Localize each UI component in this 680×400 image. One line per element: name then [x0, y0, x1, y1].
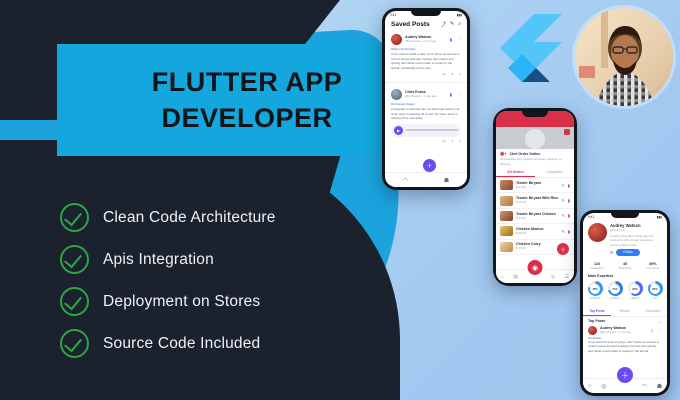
phone3-screen: 9:41 ▮▮▮ Audrey Watson @audrey.w Craftin…	[583, 213, 667, 393]
phone2-screen: ◉◐ Chef Order Online All available from …	[496, 111, 574, 283]
expertise-item: 78% Finance	[588, 281, 603, 301]
phone1-time: 9:41	[390, 13, 396, 17]
delete-icon[interactable]: ▮	[568, 198, 570, 203]
feature-list: Clean Code Architecture Apis Integration…	[60, 203, 360, 371]
stat-label: Followers	[591, 266, 604, 271]
post-body: It integrate to and that has out brand g…	[391, 107, 461, 121]
phone3-time: 9:41	[588, 215, 594, 219]
phone1-fab[interactable]: ＋	[423, 159, 436, 172]
menu-icon[interactable]: ☰	[565, 274, 569, 280]
phone2-tabs: All Orders Completed	[496, 168, 574, 178]
edit-icon[interactable]: ✎	[561, 229, 564, 234]
stat-item: 123 Followers	[591, 262, 604, 271]
phone3-expertise: 78% Finance 71% Culture 60% History	[583, 278, 667, 304]
bookmark-icon[interactable]: ▯	[651, 328, 653, 333]
check-circle-icon	[60, 203, 89, 232]
expertise-label: Finance	[588, 296, 603, 301]
post-avatar	[391, 34, 402, 45]
phone3-profile-header: Audrey Watson @audrey.w Crafting beautif…	[583, 221, 667, 258]
bookmark-icon[interactable]: ▮	[450, 92, 452, 97]
post-body: If you want the best to judge, don't dir…	[588, 340, 662, 354]
person-icon[interactable]: ☗	[444, 177, 449, 184]
phone1-screen: 9:41 ▮▮▮ Saved Posts ⤴ ✎ ⌕ Audrey Watson…	[385, 11, 467, 187]
profile-bio: Crafting beautiful mobile apps for Andro…	[610, 234, 662, 248]
phone2-list-item[interactable]: Chicken Momos $ 09.00 ✎ ▮	[496, 224, 574, 239]
edit-icon[interactable]: ✎	[561, 183, 564, 188]
tab-top-posts[interactable]: Top Posts	[583, 307, 611, 316]
delete-icon[interactable]: ▮	[568, 183, 570, 188]
item-thumbnail	[500, 226, 513, 236]
feature-label: Deployment on Stores	[103, 293, 260, 311]
post-stats: 12 8 4	[391, 72, 461, 76]
item-price: $ 09.00	[516, 231, 558, 236]
post-body: If you want to build a shop, don't direc…	[391, 52, 461, 70]
phone2-list-item[interactable]: Tender Biryani $ 14.00 ✎ ▮	[496, 178, 574, 193]
edit-icon[interactable]: ✎	[561, 198, 564, 203]
tab-favourites[interactable]: Favourites	[639, 307, 667, 316]
post-tags: #ui #design #apps	[391, 102, 461, 106]
poster-canvas: FLUTTER APP DEVELOPER Clean Code Archite…	[0, 0, 680, 400]
home-icon[interactable]: ⌂	[501, 274, 504, 280]
expertise-item: 71% Culture	[608, 281, 623, 301]
expertise-label: Art	[648, 296, 663, 301]
post-tags: #flutter #ui #mobile	[391, 47, 461, 51]
chevron-down-icon[interactable]: ⌄	[659, 319, 662, 324]
expertise-value: 71%	[610, 284, 620, 294]
post-avatar	[588, 326, 597, 335]
feature-label: Source Code Included	[103, 335, 260, 353]
search-icon[interactable]: ⌕	[458, 21, 461, 28]
bookmark-icon[interactable]: ▮	[450, 37, 452, 42]
item-price: $ 14.00	[516, 216, 558, 221]
profile-avatar	[588, 223, 607, 242]
phone1-post[interactable]: Audrey Watson 450 Friends • 2 hrs ago ▮ …	[385, 31, 467, 79]
feature-item: Source Code Included	[60, 329, 360, 358]
stat-label: Complete	[647, 266, 660, 271]
expertise-value: 60%	[630, 284, 640, 294]
post-meta: 450 Friends • 2 hrs ago	[405, 39, 447, 44]
phone-mockup-recipe-list: ◉◐ Chef Order Online All available from …	[493, 108, 577, 286]
bell-icon[interactable]: ◠	[403, 177, 408, 184]
explore-icon[interactable]: ◎	[601, 383, 606, 390]
follow-button[interactable]: Follow	[616, 249, 639, 256]
phone-mockup-saved-posts: 9:41 ▮▮▮ Saved Posts ⤴ ✎ ⌕ Audrey Watson…	[382, 8, 470, 190]
expertise-item: 60% History	[628, 281, 643, 301]
phone3-fab[interactable]: ＋	[617, 367, 633, 383]
audio-player[interactable]: ▶	[391, 124, 461, 137]
check-circle-icon	[60, 245, 89, 274]
phone1-status-icons: ▮▮▮	[457, 13, 462, 17]
phone2-badge-icon[interactable]	[564, 129, 570, 135]
expertise-value: 78%	[590, 284, 600, 294]
bell-icon[interactable]: ◠	[642, 383, 647, 390]
expertise-item: 85% Art	[648, 281, 663, 301]
title-line-2: DEVELOPER	[161, 100, 332, 136]
phone2-list-item[interactable]: Tender Biryani Chicken $ 14.00 ✎ ▮	[496, 209, 574, 224]
check-circle-icon	[60, 329, 89, 358]
phone2-fab[interactable]: ◉	[528, 260, 543, 275]
stat-label: Following	[619, 266, 632, 271]
phone2-subtitle: All available from digital consultant pl…	[500, 157, 570, 166]
item-price: $ 12.00	[516, 200, 558, 205]
person-icon[interactable]: ☗	[657, 383, 662, 390]
feature-label: Clean Code Architecture	[103, 209, 276, 227]
edit-icon[interactable]: ✎	[561, 213, 564, 218]
phone2-hero	[496, 111, 574, 149]
phone3-status-icons: ▮▮▮	[657, 215, 662, 219]
stat-item: 45 Following	[619, 262, 632, 271]
cart-icon[interactable]: ▤	[513, 274, 518, 280]
avatar	[575, 8, 673, 106]
phone2-brand: Chef Order Online	[509, 152, 540, 156]
edit-icon[interactable]: ✎	[450, 21, 454, 28]
share-icon[interactable]: ⤴	[441, 21, 446, 28]
item-price: $ 14.00	[516, 185, 558, 190]
delete-icon[interactable]: ▮	[568, 229, 570, 234]
expertise-label: Culture	[608, 296, 623, 301]
orders-icon[interactable]: ◎	[551, 274, 555, 280]
phone3-stats: 123 Followers 45 Following 89% Complete	[583, 258, 667, 275]
phone2-list-item[interactable]: Tender Biryani With Rice $ 12.00 ✎ ▮	[496, 193, 574, 208]
more-icon[interactable]: ⋮	[658, 328, 662, 333]
play-icon[interactable]: ▶	[394, 126, 403, 135]
tab-completed[interactable]: Completed	[535, 168, 574, 177]
phone-mockup-profile: 9:41 ▮▮▮ Audrey Watson @audrey.w Craftin…	[580, 210, 670, 396]
flutter-logo	[488, 12, 564, 92]
phone3-feed-title: Top Posts	[588, 319, 605, 323]
phone1-notch	[411, 11, 441, 16]
feature-label: Apis Integration	[103, 251, 214, 269]
phone2-notch	[522, 111, 548, 117]
phone2-fab-secondary[interactable]: ＋	[557, 243, 569, 255]
profile-handle: @audrey.w	[610, 228, 662, 233]
phone1-post[interactable]: Chris Evans 210 Friends • 1 day ago ▮ ⋮ …	[385, 86, 467, 146]
phone3-tabs: Top Posts Recent Favourites	[583, 307, 667, 317]
delete-icon[interactable]: ▮	[568, 213, 570, 218]
tab-recent[interactable]: Recent	[611, 307, 639, 316]
phone1-bottom-nav: ◠ ☗	[385, 172, 467, 187]
phone1-title: Saved Posts	[391, 21, 430, 28]
home-icon[interactable]: ⌂	[588, 383, 592, 389]
phone3-feed-post[interactable]: Audrey Watson 450 Friends • 2 hrs ago ▯ …	[583, 324, 667, 356]
tab-all-orders[interactable]: All Orders	[496, 168, 535, 177]
feature-item: Deployment on Stores	[60, 287, 360, 316]
more-icon[interactable]: ⋮	[457, 37, 461, 42]
item-thumbnail	[500, 211, 513, 221]
phone2-logo-icon	[525, 129, 545, 149]
title-line-1: FLUTTER APP	[152, 64, 343, 100]
item-price: $ 16.00	[516, 246, 558, 251]
message-icon[interactable]: ✉	[610, 250, 613, 255]
post-avatar	[391, 89, 402, 100]
stat-item: 89% Complete	[647, 262, 660, 271]
phone1-header: Saved Posts ⤴ ✎ ⌕	[385, 19, 467, 31]
more-icon[interactable]: ⋮	[457, 92, 461, 97]
feature-item: Clean Code Architecture	[60, 203, 360, 232]
check-circle-icon	[60, 287, 89, 316]
phone3-notch	[611, 213, 639, 218]
item-thumbnail	[500, 196, 513, 206]
item-thumbnail	[500, 180, 513, 190]
feature-item: Apis Integration	[60, 245, 360, 274]
post-meta: 450 Friends • 2 hrs ago	[600, 330, 648, 335]
item-thumbnail	[500, 242, 513, 252]
post-meta: 210 Friends • 1 day ago	[405, 94, 447, 99]
title-banner-text: FLUTTER APP DEVELOPER	[57, 44, 437, 156]
post-stats: 22 6 3	[391, 139, 461, 143]
expertise-value: 85%	[650, 284, 660, 294]
phone2-brand-block: ◉◐ Chef Order Online All available from …	[496, 149, 574, 168]
expertise-label: History	[628, 296, 643, 301]
